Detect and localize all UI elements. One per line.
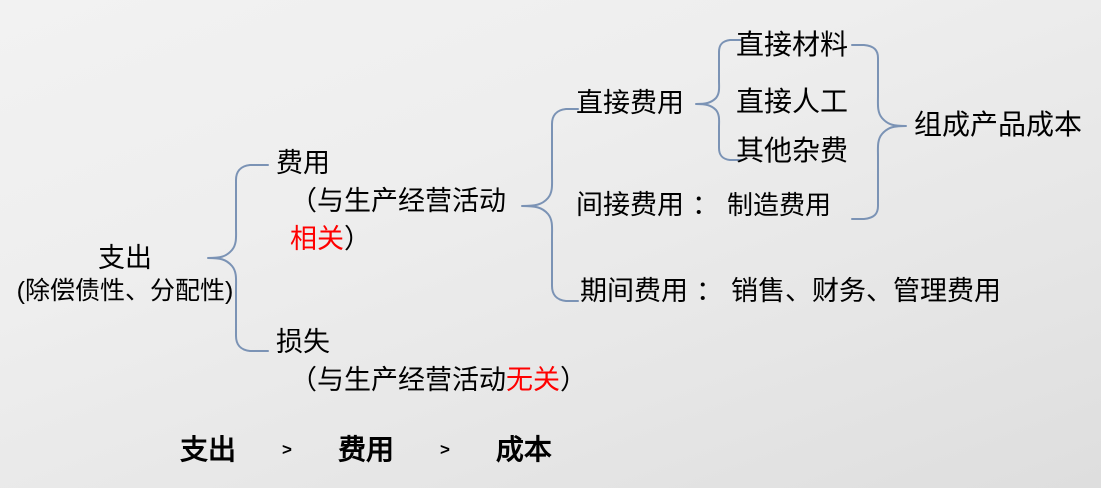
node-direct-expense-label: 直接费用 [576, 88, 684, 118]
chain-term-expense: 费用 [338, 428, 394, 468]
node-period-colon: ： [696, 276, 723, 306]
node-product-cost-label: 组成产品成本 [914, 109, 1082, 140]
branch-expense-note-line1: （与生产经营活动 [290, 186, 506, 218]
brace-product-cost [852, 45, 906, 219]
branch-loss-note-suffix: ） [560, 365, 587, 395]
branch-expense-note-prefix: （与生产经营活动 [290, 186, 506, 216]
node-indirect-colon: ： [692, 190, 719, 220]
branch-loss-note-prefix: （与生产经营活动 [290, 365, 506, 395]
node-indirect-expense: 间接费用：制造费用 [576, 190, 831, 222]
node-product-cost: 组成产品成本 [914, 108, 1082, 141]
root-node: 支出 (除偿债性、分配性) [0, 243, 250, 306]
chain-term-expenditure: 支出 [180, 428, 236, 468]
node-indirect-expense-value: 制造费用 [727, 190, 831, 220]
node-direct-material-label: 直接材料 [736, 29, 848, 60]
node-period-expense-label: 期间费用 [580, 276, 688, 306]
branch-loss-note: （与生产经营活动无关） [290, 365, 587, 397]
node-indirect-expense-label: 间接费用 [576, 190, 684, 220]
branch-loss-note-highlight: 无关 [506, 365, 560, 395]
brace-expense [522, 109, 578, 301]
branch-loss-label: 损失 [276, 327, 587, 359]
chain-term-cost: 成本 [496, 428, 552, 468]
branch-expense-note-suffix: ） [344, 224, 371, 254]
branch-loss: 损失 （与生产经营活动无关） [276, 327, 587, 397]
node-period-expense-value: 销售、财务、管理费用 [731, 276, 1001, 306]
chain-separator-2: > [440, 440, 450, 460]
summary-chain: 支出 > 费用 > 成本 [180, 428, 552, 468]
diagram-canvas: 支出 (除偿债性、分配性) 费用 （与生产经营活动 相关） 损失 （与生产经营活… [0, 0, 1101, 488]
node-direct-labor-label: 直接人工 [736, 86, 848, 117]
node-direct-material: 直接材料 [736, 28, 848, 61]
branch-expense-note-line2: 相关） [290, 224, 506, 256]
branch-expense-label: 费用 [276, 148, 506, 180]
branch-expense-note-highlight: 相关 [290, 224, 344, 254]
node-period-expense: 期间费用：销售、财务、管理费用 [580, 276, 1001, 308]
chain-separator-1: > [282, 440, 292, 460]
root-label: 支出 [0, 243, 250, 275]
root-qualifier: (除偿债性、分配性) [0, 277, 250, 307]
node-other-misc-fee-label: 其他杂费 [736, 135, 848, 166]
node-direct-labor: 直接人工 [736, 85, 848, 118]
node-other-misc-fee: 其他杂费 [736, 134, 848, 167]
node-direct-expense: 直接费用 [576, 88, 684, 120]
branch-expense: 费用 （与生产经营活动 相关） [276, 148, 506, 256]
